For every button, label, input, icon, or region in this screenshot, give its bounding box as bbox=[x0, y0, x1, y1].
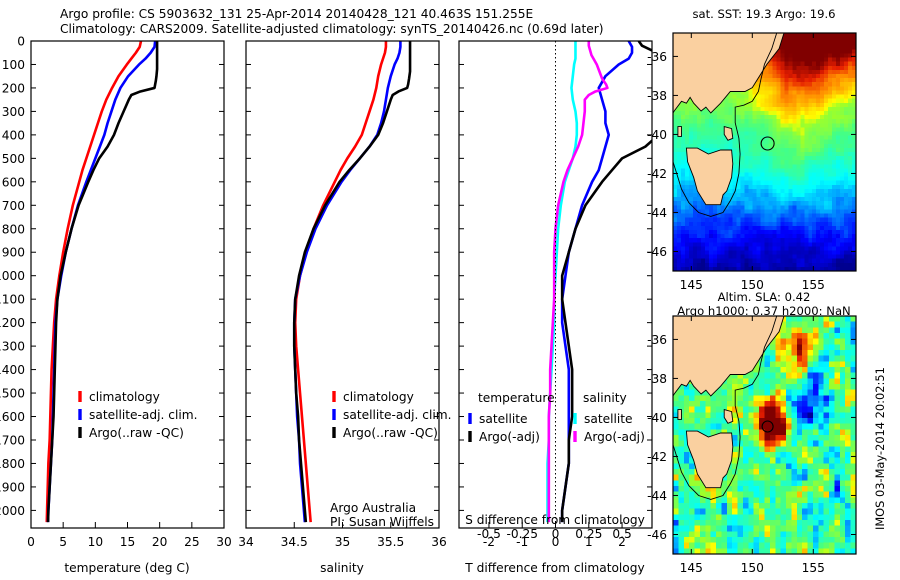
y-ticklabel: 1500 bbox=[0, 387, 25, 401]
map-cell bbox=[749, 177, 754, 182]
map-cell bbox=[828, 255, 833, 260]
map-cell bbox=[768, 62, 773, 67]
map-cell bbox=[681, 164, 686, 169]
map-cell bbox=[729, 209, 734, 214]
map-cell bbox=[836, 173, 841, 178]
map-cell bbox=[818, 407, 824, 413]
map-cell bbox=[816, 62, 821, 67]
map-cell bbox=[713, 119, 718, 124]
map-cell bbox=[716, 395, 722, 401]
map-cell bbox=[808, 197, 813, 202]
map-cell bbox=[745, 189, 750, 194]
map-cell bbox=[818, 526, 824, 532]
map-cell bbox=[768, 238, 773, 243]
map-cell bbox=[713, 115, 718, 120]
map-cell bbox=[802, 475, 808, 481]
map-cell bbox=[788, 86, 793, 91]
map-cell bbox=[808, 95, 813, 100]
map-cell bbox=[705, 111, 710, 116]
map-cell bbox=[824, 107, 829, 112]
map-cell bbox=[797, 361, 803, 367]
map-cell bbox=[743, 537, 749, 543]
map-cell bbox=[754, 384, 760, 390]
map-cell bbox=[791, 424, 797, 430]
map-cell bbox=[836, 37, 841, 42]
map-cell bbox=[761, 214, 766, 219]
map-cell bbox=[768, 164, 773, 169]
map-cell bbox=[845, 424, 851, 430]
map-cell bbox=[812, 181, 817, 186]
map-cell bbox=[824, 123, 829, 128]
map-cell bbox=[753, 119, 758, 124]
map-cell bbox=[716, 543, 722, 549]
map-cell bbox=[765, 356, 771, 362]
map-cell bbox=[802, 514, 808, 520]
map-cell bbox=[840, 463, 846, 469]
map-cell bbox=[711, 401, 717, 407]
x-ticklabel: 25 bbox=[184, 535, 200, 549]
map-cell bbox=[808, 205, 813, 210]
map-cell bbox=[840, 201, 845, 206]
map-cell bbox=[729, 250, 734, 255]
map-cell bbox=[725, 259, 730, 264]
map-cell bbox=[816, 78, 821, 83]
map-cell bbox=[737, 214, 742, 219]
map-cell bbox=[824, 197, 829, 202]
map-cell bbox=[721, 255, 726, 260]
map-cell bbox=[673, 119, 678, 124]
map-cell bbox=[834, 395, 840, 401]
map-cell bbox=[786, 373, 792, 379]
map-cell bbox=[781, 446, 787, 452]
map-cell bbox=[816, 164, 821, 169]
map-cell bbox=[709, 263, 714, 268]
map-cell bbox=[816, 222, 821, 227]
map-cell bbox=[757, 263, 762, 268]
map-cell bbox=[784, 255, 789, 260]
map-cell bbox=[732, 492, 738, 498]
map-cell bbox=[757, 222, 762, 227]
map-cell bbox=[788, 62, 793, 67]
map-cell bbox=[784, 54, 789, 59]
legend-label: satellite bbox=[479, 412, 528, 426]
map-cell bbox=[733, 140, 738, 145]
map-cell bbox=[802, 458, 808, 464]
map-cell bbox=[792, 173, 797, 178]
map-cell bbox=[781, 356, 787, 362]
map-cell bbox=[812, 82, 817, 87]
map-cell bbox=[824, 356, 830, 362]
map-cell bbox=[788, 185, 793, 190]
map-cell bbox=[685, 103, 690, 108]
map-cell bbox=[836, 131, 841, 136]
map-cell bbox=[840, 492, 846, 498]
map-cell bbox=[813, 452, 819, 458]
map-cell bbox=[804, 140, 809, 145]
map-cell bbox=[673, 242, 678, 247]
map-cell bbox=[745, 209, 750, 214]
map-cell bbox=[804, 33, 809, 38]
map-cell bbox=[765, 412, 771, 418]
map-cell bbox=[844, 250, 849, 255]
map-cell bbox=[824, 322, 830, 328]
map-cell bbox=[705, 226, 710, 231]
map-cell bbox=[800, 111, 805, 116]
map-cell bbox=[772, 62, 777, 67]
map-cell bbox=[816, 90, 821, 95]
map-cell bbox=[800, 140, 805, 145]
map-cell bbox=[689, 214, 694, 219]
map-cell bbox=[738, 401, 744, 407]
map-cell bbox=[840, 418, 846, 424]
map-cell bbox=[812, 205, 817, 210]
map-cell bbox=[743, 486, 749, 492]
map-cell bbox=[733, 95, 738, 100]
map-cell bbox=[768, 127, 773, 132]
map-cell bbox=[802, 412, 808, 418]
map-cell bbox=[705, 218, 710, 223]
map-cell bbox=[677, 148, 682, 153]
map-cell bbox=[776, 218, 781, 223]
map-cell bbox=[768, 168, 773, 173]
map-cell bbox=[780, 74, 785, 79]
map-cell bbox=[828, 222, 833, 227]
map-cell bbox=[745, 230, 750, 235]
map-cell bbox=[804, 49, 809, 54]
map-cell bbox=[765, 197, 770, 202]
map-cell bbox=[788, 74, 793, 79]
map-cell bbox=[673, 205, 678, 210]
map-cell bbox=[784, 164, 789, 169]
map-cell bbox=[796, 189, 801, 194]
map-cell bbox=[713, 226, 718, 231]
map-cell bbox=[786, 322, 792, 328]
sla-map-title-1: Altim. SLA: 0.42 bbox=[718, 290, 811, 304]
map-cell bbox=[840, 486, 846, 492]
map-cell bbox=[848, 181, 853, 186]
map-cell bbox=[729, 234, 734, 239]
map-cell bbox=[834, 537, 840, 543]
map-cell bbox=[745, 250, 750, 255]
map-cell bbox=[834, 350, 840, 356]
map-cell bbox=[828, 119, 833, 124]
map-cell bbox=[832, 160, 837, 165]
map-cell bbox=[800, 41, 805, 46]
map-cell bbox=[792, 103, 797, 108]
map-cell bbox=[808, 136, 813, 141]
map-cell bbox=[808, 131, 813, 136]
map-cell bbox=[784, 152, 789, 157]
map-cell bbox=[840, 41, 845, 46]
map-cell bbox=[685, 218, 690, 223]
map-cell bbox=[745, 152, 750, 157]
map-cell bbox=[695, 480, 701, 486]
map-cell bbox=[780, 62, 785, 67]
map-cell bbox=[689, 230, 694, 235]
map-cell bbox=[840, 344, 846, 350]
map-cell bbox=[776, 197, 781, 202]
map-cell bbox=[824, 160, 829, 165]
map-cell bbox=[761, 86, 766, 91]
map-cell bbox=[808, 90, 813, 95]
map-cell bbox=[812, 209, 817, 214]
map-cell bbox=[738, 486, 744, 492]
map-cell bbox=[836, 160, 841, 165]
map-cell bbox=[745, 164, 750, 169]
map-y-ticklabel: -38 bbox=[647, 372, 667, 386]
map-cell bbox=[796, 263, 801, 268]
map-cell bbox=[761, 193, 766, 198]
map-cell bbox=[693, 127, 698, 132]
map-cell bbox=[754, 435, 760, 441]
map-cell bbox=[829, 469, 835, 475]
map-cell bbox=[727, 492, 733, 498]
map-cell bbox=[685, 189, 690, 194]
map-cell bbox=[828, 234, 833, 239]
map-cell bbox=[844, 119, 849, 124]
credit-organisation: Argo Australia bbox=[330, 501, 416, 515]
map-cell bbox=[828, 205, 833, 210]
map-cell bbox=[796, 45, 801, 50]
map-cell bbox=[721, 218, 726, 223]
map-cell bbox=[824, 127, 829, 132]
map-cell bbox=[765, 181, 770, 186]
map-cell bbox=[813, 469, 819, 475]
map-cell bbox=[804, 209, 809, 214]
map-cell bbox=[713, 230, 718, 235]
map-cell bbox=[808, 107, 813, 112]
map-cell bbox=[737, 238, 742, 243]
map-cell bbox=[757, 107, 762, 112]
map-cell bbox=[748, 537, 754, 543]
map-cell bbox=[781, 333, 787, 339]
map-cell bbox=[788, 131, 793, 136]
map-cell bbox=[802, 407, 808, 413]
map-cell bbox=[845, 429, 851, 435]
map-cell bbox=[775, 497, 781, 503]
map-cell bbox=[733, 201, 738, 206]
map-cell bbox=[748, 526, 754, 532]
map-cell bbox=[780, 238, 785, 243]
map-cell bbox=[681, 255, 686, 260]
map-cell bbox=[796, 54, 801, 59]
map-cell bbox=[824, 418, 830, 424]
map-cell bbox=[844, 164, 849, 169]
map-cell bbox=[796, 131, 801, 136]
map-cell bbox=[808, 463, 814, 469]
map-cell bbox=[804, 263, 809, 268]
map-cell bbox=[832, 86, 837, 91]
map-cell bbox=[800, 218, 805, 223]
map-cell bbox=[792, 115, 797, 120]
map-cell bbox=[796, 246, 801, 251]
map-cell bbox=[824, 242, 829, 247]
map-cell bbox=[685, 246, 690, 251]
legend-label: Argo(-adj) bbox=[584, 430, 645, 444]
map-cell bbox=[824, 140, 829, 145]
map-cell bbox=[733, 148, 738, 153]
map-cell bbox=[772, 177, 777, 182]
map-cell bbox=[701, 222, 706, 227]
map-cell bbox=[832, 230, 837, 235]
map-cell bbox=[788, 242, 793, 247]
map-cell bbox=[800, 136, 805, 141]
map-cell bbox=[784, 107, 789, 112]
map-cell bbox=[711, 531, 717, 537]
map-cell bbox=[681, 103, 686, 108]
map-cell bbox=[749, 111, 754, 116]
map-cell bbox=[802, 401, 808, 407]
map-cell bbox=[804, 131, 809, 136]
map-cell bbox=[768, 189, 773, 194]
map-cell bbox=[829, 350, 835, 356]
map-cell bbox=[705, 136, 710, 141]
map-cell bbox=[824, 82, 829, 87]
map-cell bbox=[812, 74, 817, 79]
map-cell bbox=[800, 250, 805, 255]
map-cell bbox=[776, 148, 781, 153]
map-cell bbox=[753, 255, 758, 260]
map-cell bbox=[733, 230, 738, 235]
map-cell bbox=[685, 131, 690, 136]
map-cell bbox=[816, 54, 821, 59]
map-cell bbox=[816, 131, 821, 136]
map-cell bbox=[685, 127, 690, 132]
map-cell bbox=[832, 255, 837, 260]
map-cell bbox=[840, 82, 845, 87]
map-cell bbox=[681, 115, 686, 120]
map-cell bbox=[836, 177, 841, 182]
map-cell bbox=[748, 418, 754, 424]
map-cell bbox=[791, 373, 797, 379]
map-cell bbox=[804, 222, 809, 227]
map-cell bbox=[784, 37, 789, 42]
map-cell bbox=[836, 181, 841, 186]
map-cell bbox=[824, 441, 830, 447]
map-cell bbox=[701, 205, 706, 210]
map-cell bbox=[840, 238, 845, 243]
map-cell bbox=[796, 255, 801, 260]
map-cell bbox=[788, 222, 793, 227]
map-cell bbox=[754, 429, 760, 435]
map-cell bbox=[816, 160, 821, 165]
map-cell bbox=[818, 418, 824, 424]
map-cell bbox=[673, 497, 679, 503]
map-cell bbox=[681, 197, 686, 202]
map-cell bbox=[824, 458, 830, 464]
map-cell bbox=[844, 263, 849, 268]
map-cell bbox=[776, 74, 781, 79]
map-cell bbox=[743, 469, 749, 475]
map-cell bbox=[813, 520, 819, 526]
map-cell bbox=[834, 333, 840, 339]
map-cell bbox=[844, 131, 849, 136]
map-cell bbox=[848, 136, 853, 141]
map-cell bbox=[804, 234, 809, 239]
map-cell bbox=[848, 201, 853, 206]
map-y-ticklabel: -40 bbox=[647, 128, 667, 142]
map-cell bbox=[697, 246, 702, 251]
map-cell bbox=[775, 367, 781, 373]
map-cell bbox=[788, 201, 793, 206]
map-cell bbox=[791, 480, 797, 486]
map-cell bbox=[812, 242, 817, 247]
map-cell bbox=[765, 395, 771, 401]
map-cell bbox=[796, 218, 801, 223]
map-cell bbox=[765, 238, 770, 243]
map-cell bbox=[741, 242, 746, 247]
y-ticklabel: 1200 bbox=[0, 316, 25, 330]
map-cell bbox=[800, 90, 805, 95]
map-cell bbox=[737, 259, 742, 264]
map-cell bbox=[784, 78, 789, 83]
map-cell bbox=[709, 226, 714, 231]
map-cell bbox=[784, 95, 789, 100]
map-cell bbox=[824, 222, 829, 227]
map-cell bbox=[732, 480, 738, 486]
map-cell bbox=[776, 173, 781, 178]
map-cell bbox=[775, 424, 781, 430]
x-ticklabel: 36 bbox=[431, 535, 447, 549]
map-cell bbox=[717, 140, 722, 145]
map-cell bbox=[701, 226, 706, 231]
map-cell bbox=[840, 230, 845, 235]
map-cell bbox=[780, 214, 785, 219]
map-cell bbox=[693, 123, 698, 128]
map-cell bbox=[829, 418, 835, 424]
map-cell bbox=[820, 41, 825, 46]
map-cell bbox=[834, 373, 840, 379]
map-cell bbox=[816, 99, 821, 104]
map-cell bbox=[733, 209, 738, 214]
map-cell bbox=[737, 193, 742, 198]
map-cell bbox=[800, 230, 805, 235]
map-cell bbox=[741, 164, 746, 169]
map-cell bbox=[784, 181, 789, 186]
map-cell bbox=[788, 99, 793, 104]
map-cell bbox=[721, 144, 726, 149]
map-cell bbox=[713, 242, 718, 247]
map-cell bbox=[705, 520, 711, 526]
map-cell bbox=[788, 58, 793, 63]
map-cell bbox=[797, 497, 803, 503]
map-cell bbox=[681, 246, 686, 251]
map-cell bbox=[693, 263, 698, 268]
map-cell bbox=[745, 263, 750, 268]
map-cell bbox=[695, 514, 701, 520]
x-ticklabel: 20 bbox=[152, 535, 168, 549]
map-cell bbox=[824, 401, 830, 407]
map-cell bbox=[721, 520, 727, 526]
map-cell bbox=[732, 531, 738, 537]
map-cell bbox=[808, 193, 813, 198]
map-cell bbox=[743, 480, 749, 486]
map-cell bbox=[741, 197, 746, 202]
map-cell bbox=[804, 119, 809, 124]
map-cell bbox=[792, 201, 797, 206]
map-cell bbox=[741, 99, 746, 104]
map-cell bbox=[812, 222, 817, 227]
map-cell bbox=[800, 238, 805, 243]
map-cell bbox=[808, 115, 813, 120]
map-cell bbox=[840, 177, 845, 182]
map-cell bbox=[848, 197, 853, 202]
map-cell bbox=[713, 246, 718, 251]
map-cell bbox=[685, 107, 690, 112]
map-cell bbox=[754, 475, 760, 481]
map-cell bbox=[749, 148, 754, 153]
map-cell bbox=[761, 259, 766, 264]
